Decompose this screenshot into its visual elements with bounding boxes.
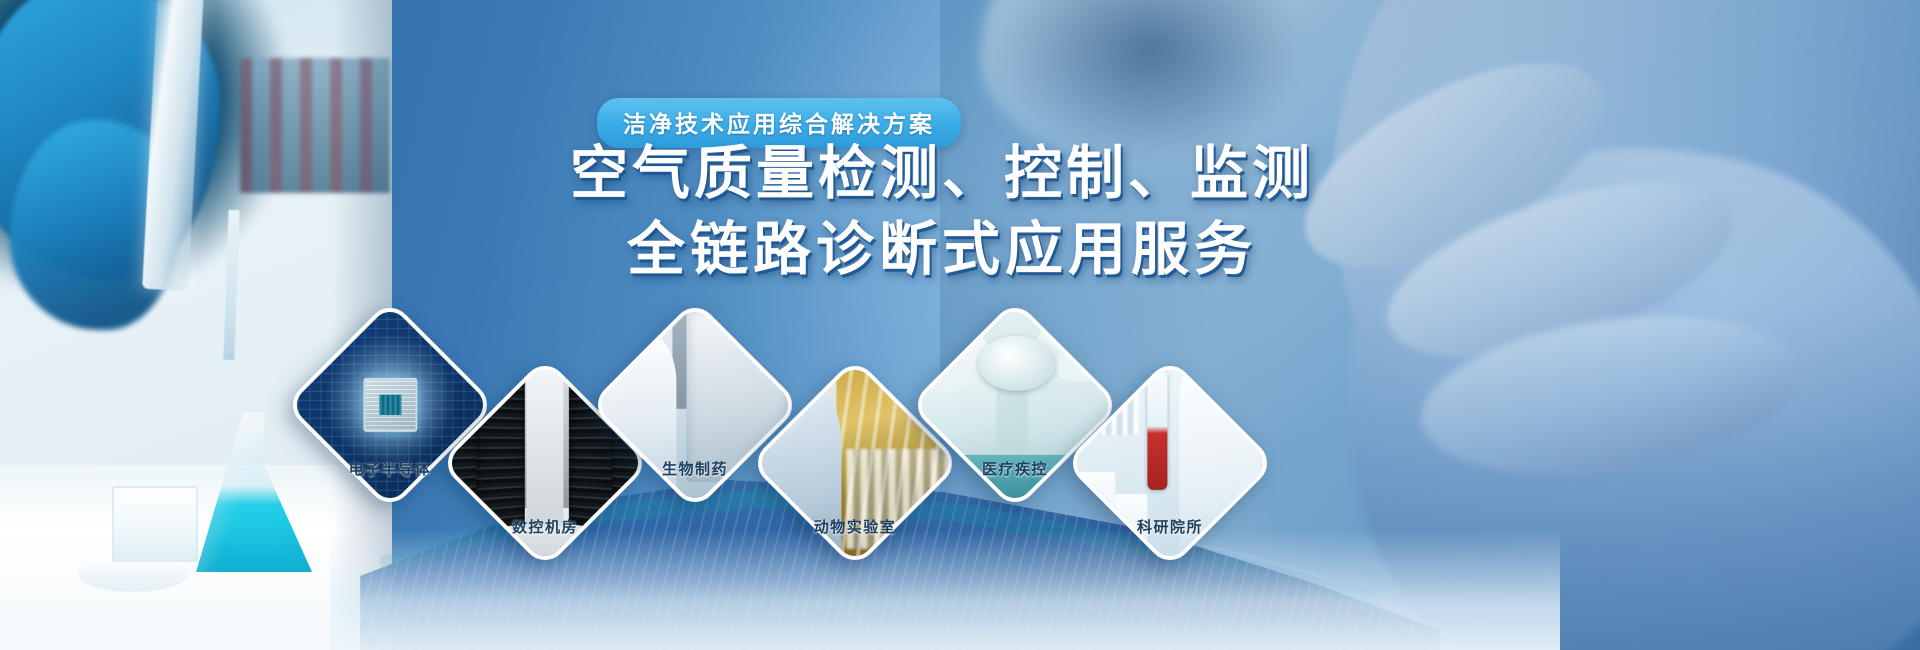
lab-coat-icon [1179, 363, 1276, 569]
blood-sample-tube-icon [1147, 372, 1167, 490]
industry-card-electronics-semiconductor[interactable]: 电子半导体 [315, 330, 465, 480]
industry-card-label: 医疗疾控 [982, 458, 1048, 479]
diamond-frame [1064, 357, 1276, 569]
industry-card-medical-disease-control[interactable]: 医疗疾控 [940, 330, 1090, 480]
face-mask-icon-right [1056, 350, 1101, 382]
industry-card-label: 动物实验室 [814, 516, 897, 537]
industry-card-label: 电子半导体 [349, 458, 432, 479]
industry-card-label: 生物制药 [662, 458, 728, 479]
hero-banner: 洁净技术应用综合解决方案 空气质量检测、控制、监测 全链路诊断式应用服务 电子半… [0, 0, 1920, 650]
glassware-icon-1 [1070, 472, 1115, 563]
chip-icon [363, 378, 417, 432]
datacenter-aisle [527, 368, 563, 527]
industry-card-list: 电子半导体 数控机房 [0, 0, 1920, 650]
industry-card-label: 数控机房 [512, 516, 578, 537]
chip-core-icon [379, 395, 401, 415]
industry-card-animal-laboratory[interactable]: 动物实验室 [780, 388, 930, 538]
server-rack-icon [477, 360, 526, 529]
industry-card-research-institute[interactable]: 科研院所 [1095, 388, 1245, 538]
industry-card-label: 科研院所 [1137, 516, 1203, 537]
industry-card-biopharmaceutical[interactable]: 生物制药 [620, 330, 770, 480]
card-thumbnail-research [1064, 357, 1276, 569]
face-mask-icon-left [924, 360, 969, 392]
